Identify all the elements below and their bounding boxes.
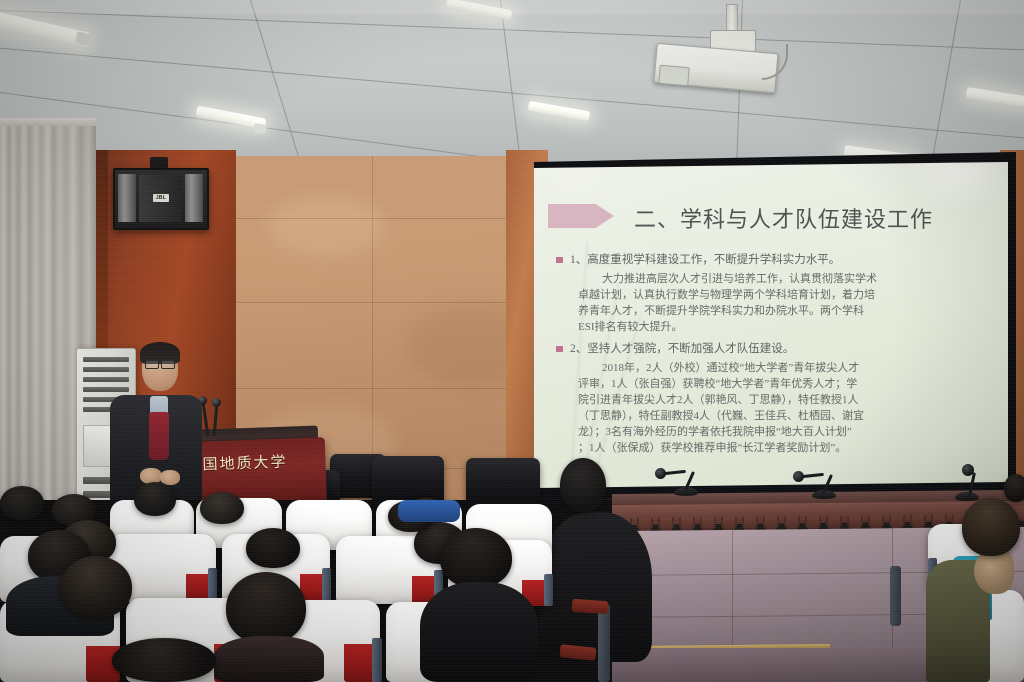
aisle-rail-arm bbox=[572, 599, 609, 614]
projector-lens bbox=[658, 65, 690, 87]
audience-bag bbox=[398, 500, 460, 522]
slide-body-line: 卓越计划，认真执行数学与物理学两个学科培育计划，着力培 bbox=[578, 286, 875, 302]
audience-head bbox=[226, 572, 306, 644]
presenter-glasses bbox=[145, 360, 159, 369]
slide-bullet-icon bbox=[556, 346, 563, 352]
table-mic-head bbox=[793, 471, 804, 482]
podium-microphone-head bbox=[212, 398, 221, 407]
audience-shoulders bbox=[214, 636, 324, 682]
ceiling-light bbox=[528, 101, 591, 122]
audience-head bbox=[1004, 474, 1024, 502]
audience-head bbox=[112, 638, 216, 682]
aisle-rail-post bbox=[598, 604, 610, 682]
slide-bullet-icon bbox=[556, 257, 563, 263]
slide-heading-2: 2、坚持人才强院，不断加强人才队伍建设。 bbox=[570, 340, 794, 356]
table-mic-base bbox=[955, 492, 979, 501]
slide-body-line: 院引进青年拔尖人才2人（郭艳风、丁思静），特任教授1人 bbox=[578, 391, 859, 407]
slide-title: 二、学科与人才队伍建设工作 bbox=[634, 202, 933, 234]
table-mic-head bbox=[655, 468, 666, 479]
audience-head bbox=[134, 482, 176, 516]
audience-head bbox=[60, 556, 132, 618]
stage-chair bbox=[372, 456, 444, 504]
slide-body-line: （丁思静），特任副教授4人（代巍、王佳兵、杜栖园、谢宜 bbox=[578, 407, 864, 423]
audience-head bbox=[440, 528, 512, 588]
jbl-logo: JBL bbox=[153, 194, 169, 202]
rail-person-head bbox=[560, 458, 606, 512]
ceiling-light bbox=[966, 87, 1024, 108]
presenter-sweater bbox=[149, 412, 169, 460]
rail-person-body bbox=[540, 512, 652, 662]
projection-screen: 二、学科与人才队伍建设工作 1、高度重视学科建设工作，不断提升学科实力水平。 大… bbox=[534, 162, 1008, 488]
seat-side-panel bbox=[372, 638, 382, 682]
aisle-rail-post bbox=[890, 566, 901, 626]
presenter-glasses bbox=[161, 360, 175, 369]
slide-body-line: 2018年，2人（外校）通过校“地大学者”青年拔尖人才 bbox=[602, 359, 859, 375]
slide-body-line: 评审，1人（张自强）获聘校“地大学者”青年优秀人才；学 bbox=[578, 375, 857, 391]
seat-side-panel bbox=[208, 568, 217, 602]
slide-body-line: ；1人（张保成）获学校推荐申报“长江学者奖励计划”。 bbox=[578, 439, 846, 455]
ceiling bbox=[0, 0, 1024, 172]
projector-cable bbox=[762, 44, 788, 80]
slide-arrow-icon bbox=[548, 204, 614, 228]
conference-hall-photo: JBL 二、学科与人才队伍建设工作 1、高度重视学科建设工作，不断提升学科实力水… bbox=[0, 0, 1024, 682]
audience-shoulders bbox=[420, 582, 538, 682]
seat-side-panel bbox=[322, 568, 331, 602]
seat-side-panel bbox=[544, 574, 553, 606]
wall-speaker: JBL bbox=[113, 168, 209, 230]
slide-body-line: ESI排名有较大提升。 bbox=[578, 318, 683, 334]
speaker-side-left bbox=[118, 174, 136, 222]
table-mic-head bbox=[962, 464, 974, 476]
slide-body-line: 养青年人才，不断提升学院学科实力和办院水平。两个学科 bbox=[578, 302, 864, 318]
audience-head bbox=[962, 498, 1020, 556]
slide-body-line: 龙）；3名有海外经历的学者依托我院申报“地大百人计划” bbox=[578, 423, 852, 439]
audience-head bbox=[0, 486, 44, 520]
speaker-side-right bbox=[185, 174, 203, 222]
slide-content: 二、学科与人才队伍建设工作 1、高度重视学科建设工作，不断提升学科实力水平。 大… bbox=[534, 162, 1008, 488]
audience-head bbox=[246, 528, 300, 568]
slide-heading-1: 1、高度重视学科建设工作，不断提升学科实力水平。 bbox=[570, 251, 840, 267]
slide-body-line: 大力推进高层次人才引进与培养工作，认真贯彻落实学术 bbox=[602, 270, 877, 286]
audience-head bbox=[200, 492, 244, 524]
stage-chair bbox=[466, 458, 540, 506]
